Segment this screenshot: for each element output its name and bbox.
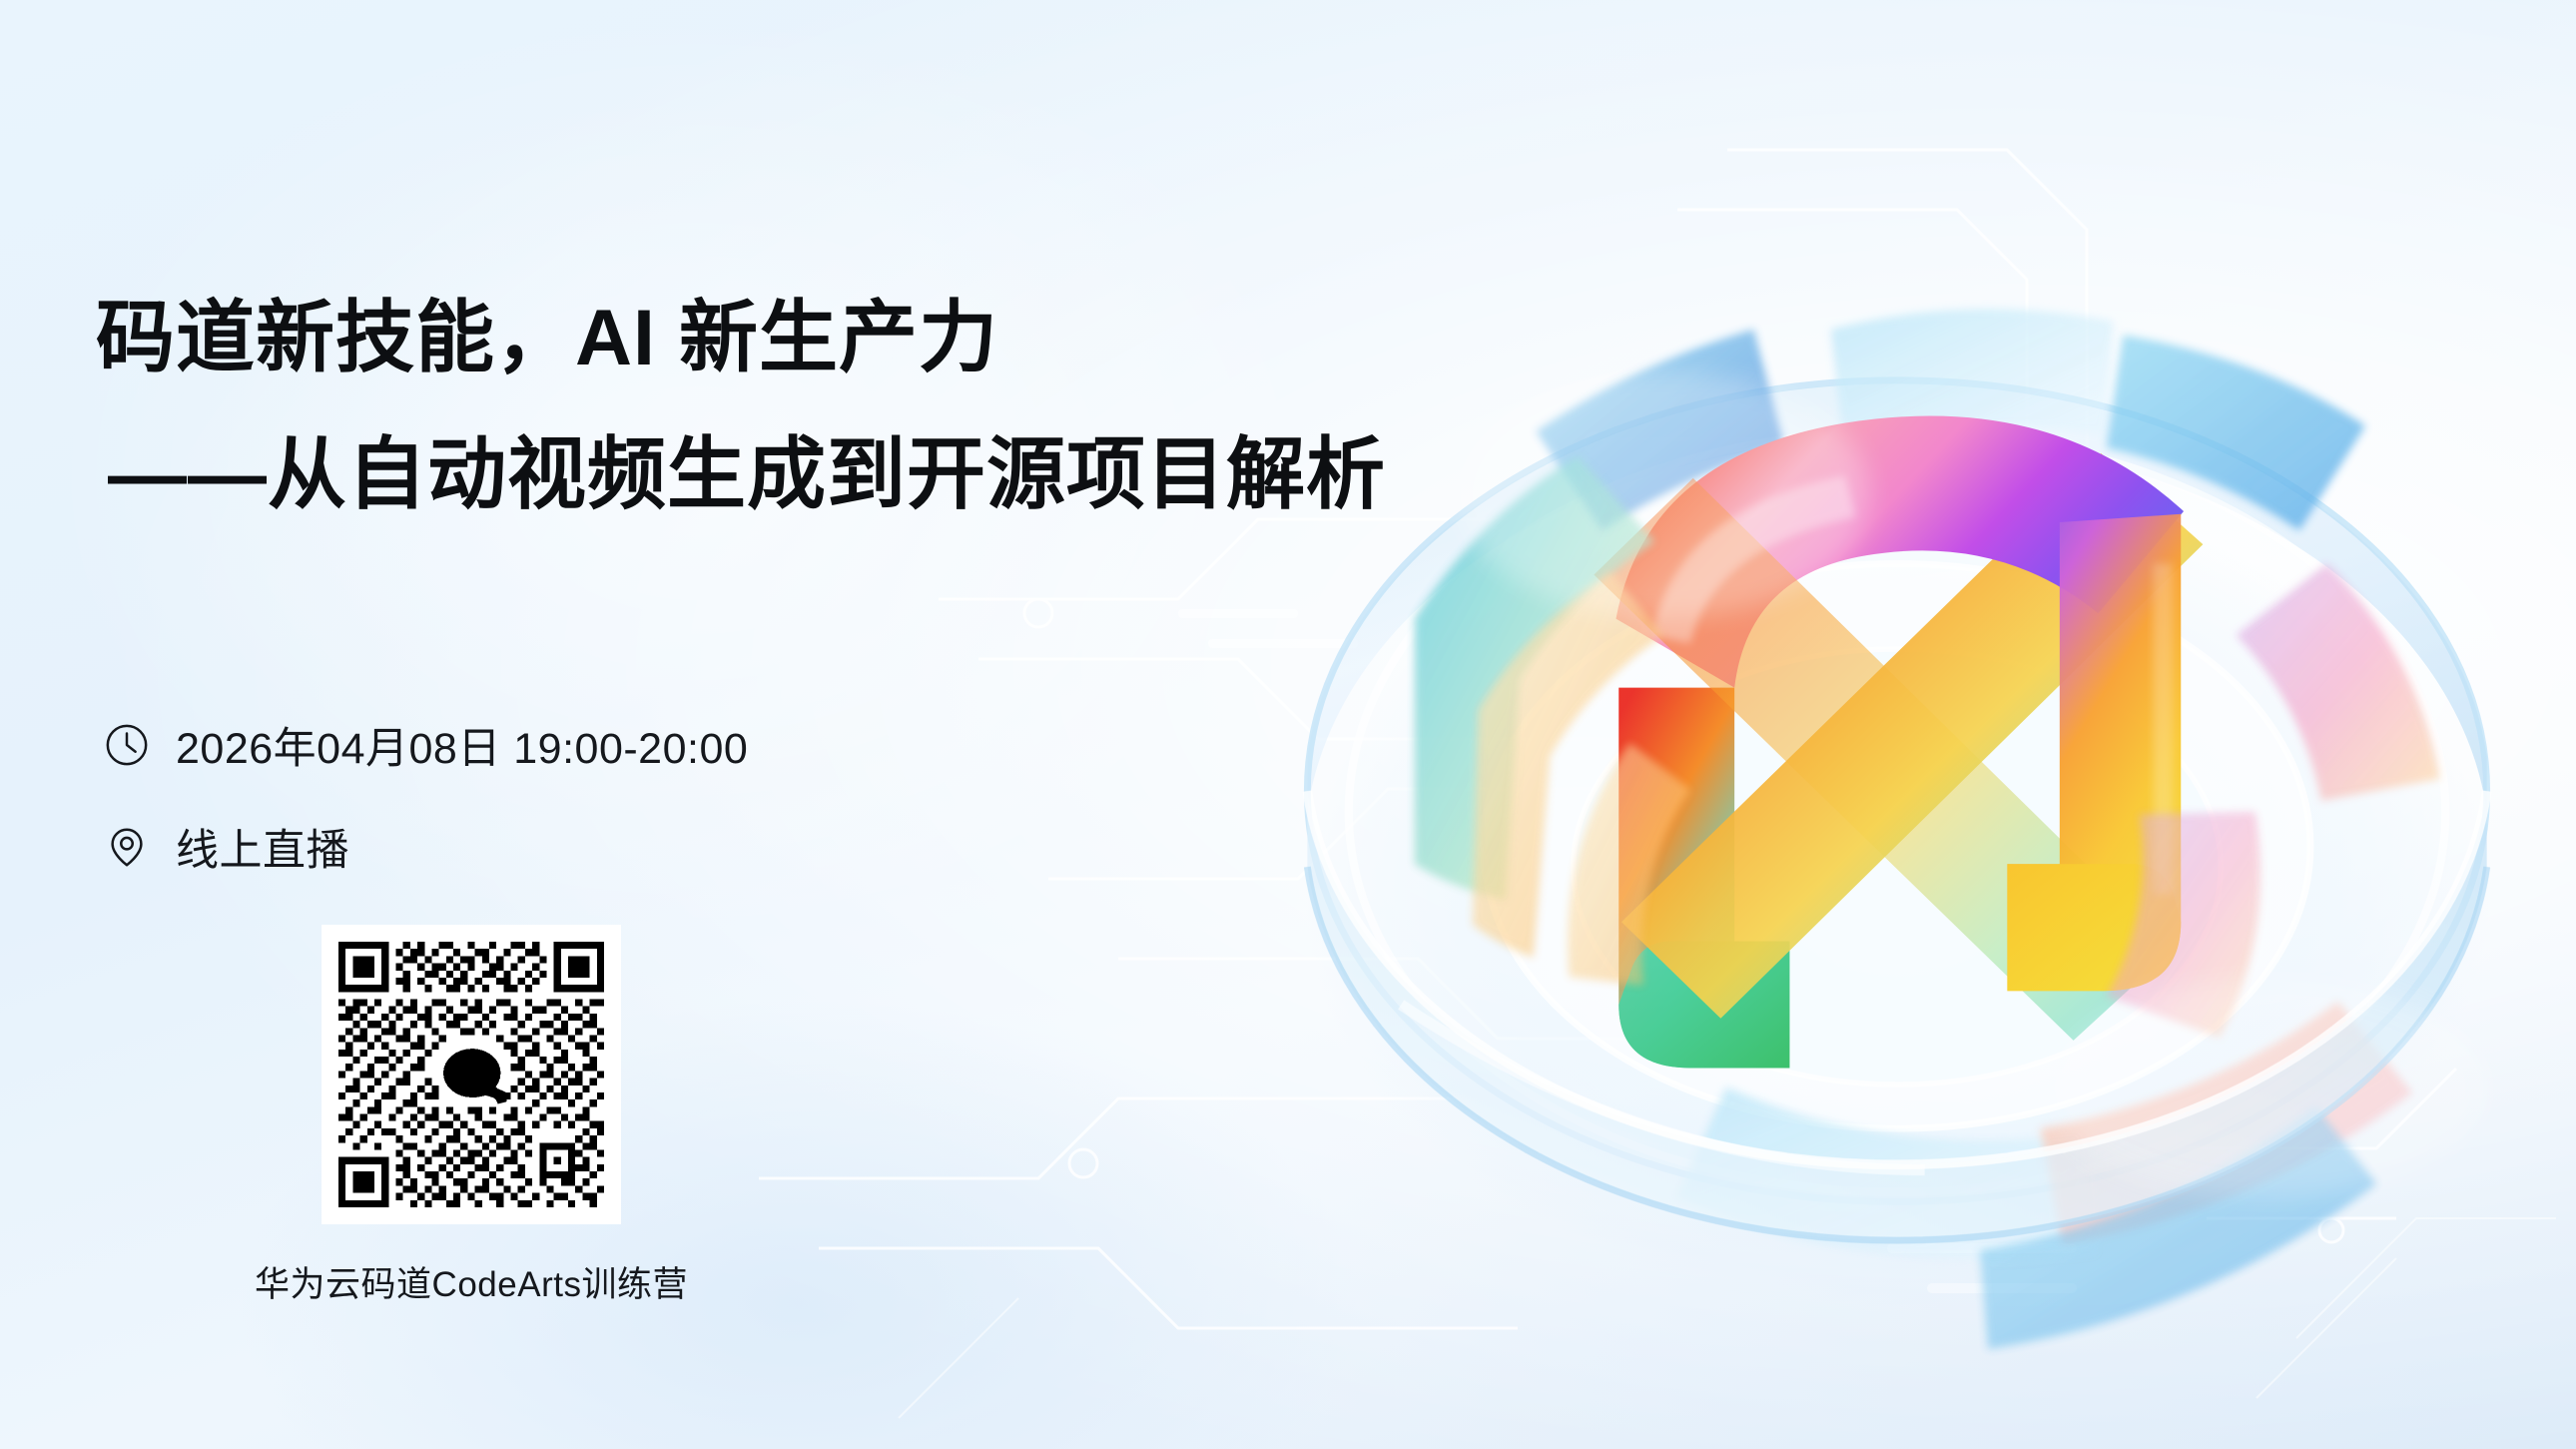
title-line-1: 码道新技能，AI 新生产力 xyxy=(96,298,1394,376)
title-line-2: ——从自动视频生成到开源项目解析 xyxy=(108,434,1394,513)
page-title: 码道新技能，AI 新生产力 ——从自动视频生成到开源项目解析 xyxy=(96,298,1394,513)
event-location-row: 线上直播 xyxy=(104,816,748,878)
event-datetime-row: 2026年04月08日 19:00-20:00 xyxy=(104,714,748,776)
event-datetime-label: 2026年04月08日 19:00-20:00 xyxy=(176,714,748,776)
clock-icon xyxy=(104,722,150,768)
location-pin-icon xyxy=(104,824,150,870)
content-column: 码道新技能，AI 新生产力 ——从自动视频生成到开源项目解析 2026年04月0… xyxy=(96,0,1414,1449)
promo-poster: 码道新技能，AI 新生产力 ——从自动视频生成到开源项目解析 2026年04月0… xyxy=(0,0,2576,1449)
event-details: 2026年04月08日 19:00-20:00 线上直播 xyxy=(104,714,748,918)
qr-card[interactable] xyxy=(322,925,621,1224)
qr-code[interactable] xyxy=(338,942,604,1207)
event-location-label: 线上直播 xyxy=(176,816,349,878)
qr-block: 华为云码道CodeArts训练营 xyxy=(322,925,709,1307)
qr-caption: 华为云码道CodeArts训练营 xyxy=(234,1256,709,1307)
